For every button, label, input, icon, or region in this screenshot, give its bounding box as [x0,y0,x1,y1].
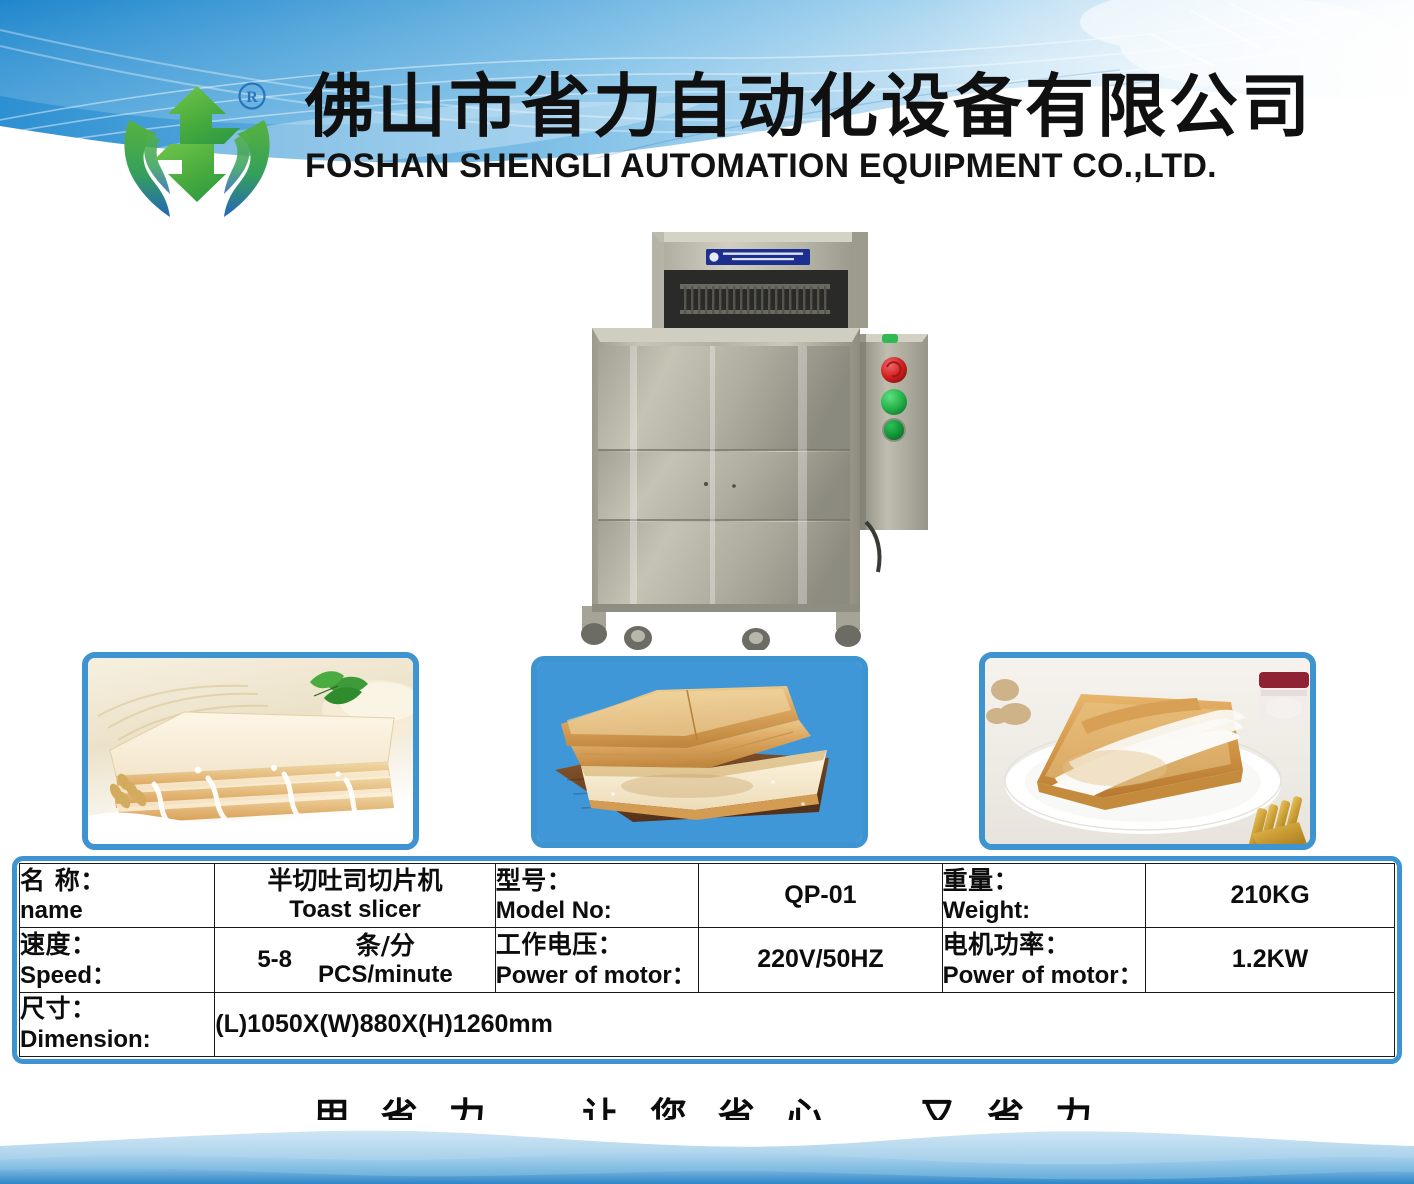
spec-label-weight-cn: 重量： [943,866,1146,897]
spec-value-name-en: Toast slicer [215,896,495,925]
specification-table: 名 称： name 半切吐司切片机 Toast slicer 型号： Model… [12,856,1402,1064]
spec-value-name-cn: 半切吐司切片机 [215,866,495,896]
machine-product-photo [560,222,942,650]
spec-label-speed: 速度： Speed： [20,928,215,992]
company-name-cn: 佛山市省力自动化设备有限公司 [305,72,1325,142]
spec-label-name: 名 称： name [20,864,215,928]
gallery-photo-3 [979,652,1316,850]
spec-label-model-en: Model No: [496,896,699,925]
spec-value-model: QP-01 [699,864,942,928]
footer-wave-decoration [0,1120,1414,1184]
spec-value-speed-unit-en: PCS/minute [318,961,453,990]
spec-label-voltage-en: Power of motor： [496,961,699,990]
spec-value-voltage: 220V/50HZ [699,928,942,992]
spec-label-speed-cn: 速度： [20,930,214,961]
spec-label-speed-en: Speed： [20,961,214,990]
spec-row-dimension: 尺寸： Dimension: (L)1050X(W)880X(H)1260mm [20,992,1395,1056]
start-button [881,389,907,415]
svg-text:R: R [246,89,258,106]
company-logo: R [118,76,276,224]
spec-value-speed: 5-8 条/分 PCS/minute [215,928,496,992]
gallery-photo-2 [531,656,868,848]
spec-label-weight: 重量： Weight: [942,864,1146,928]
spec-label-model: 型号： Model No: [495,864,699,928]
spec-label-voltage: 工作电压： Power of motor： [495,928,699,992]
spec-value-speed-number: 5-8 [257,946,292,974]
spec-label-voltage-cn: 工作电压： [496,930,699,961]
spec-label-motor-power: 电机功率： Power of motor： [942,928,1146,992]
company-name-en: FOSHAN SHENGLI AUTOMATION EQUIPMENT CO.,… [305,148,1310,184]
spec-label-dimension: 尺寸： Dimension: [20,992,215,1056]
spec-value-weight: 210KG [1146,864,1395,928]
company-name-block: 佛山市省力自动化设备有限公司 FOSHAN SHENGLI AUTOMATION… [305,72,1325,185]
spec-value-name: 半切吐司切片机 Toast slicer [215,864,496,928]
emergency-stop-button [881,357,907,383]
spec-label-motor-power-cn: 电机功率： [943,930,1146,961]
spec-label-name-cn: 名 称： [20,866,214,897]
spec-label-dimension-cn: 尺寸： [20,994,214,1025]
spec-label-name-en: name [20,896,214,925]
spec-value-dimension: (L)1050X(W)880X(H)1260mm [215,992,1395,1056]
gallery-photo-1 [82,652,419,850]
machine-nameplate [706,249,810,265]
registered-mark-icon: R [240,84,265,109]
spec-label-motor-power-en: Power of motor： [943,961,1146,990]
spec-label-dimension-en: Dimension: [20,1025,214,1054]
spec-label-weight-en: Weight: [943,896,1146,925]
spec-row-name: 名 称： name 半切吐司切片机 Toast slicer 型号： Model… [20,864,1395,928]
spec-row-speed: 速度： Speed： 5-8 条/分 PCS/minute [20,928,1395,992]
jam-jar [1259,672,1309,724]
machine-control-box [860,334,928,530]
spec-value-speed-unit-cn: 条/分 [318,931,453,961]
product-spec-sheet: R 佛山市省力自动化设备有限公司 FOSHAN SHENGLI AUTOMATI… [0,0,1414,1184]
spec-label-model-cn: 型号： [496,866,699,897]
spec-value-motor-power: 1.2KW [1146,928,1395,992]
